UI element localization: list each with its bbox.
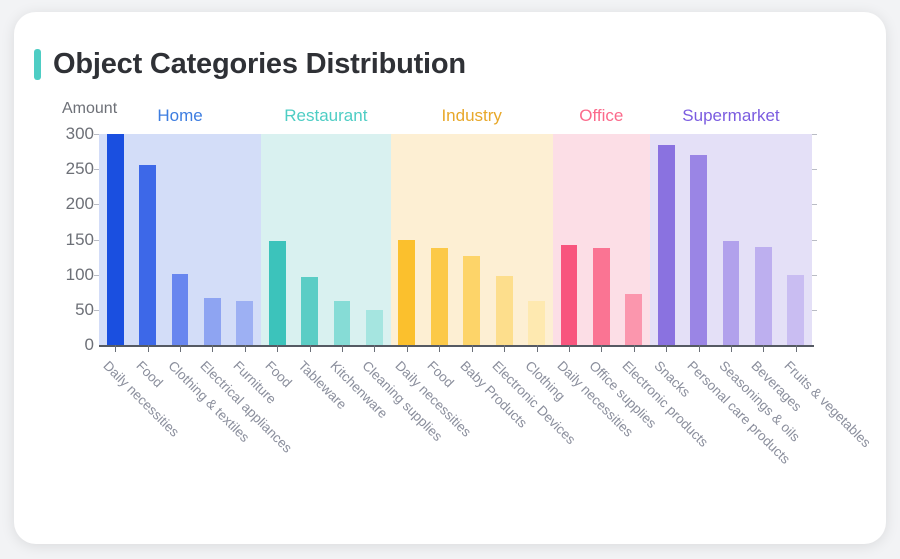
y-axis-tick-right (812, 310, 817, 311)
x-axis-tick (310, 345, 311, 352)
chart-plot-area: Amount 050100150200250300 HomeRestaurant… (14, 12, 886, 544)
x-axis-tick (115, 345, 116, 352)
x-axis-tick (342, 345, 343, 352)
x-axis-tick (439, 345, 440, 352)
x-axis-tick (763, 345, 764, 352)
y-axis-tick-right (812, 275, 817, 276)
y-axis-tick (94, 275, 99, 276)
x-axis-tick (245, 345, 246, 352)
y-axis-tick (94, 310, 99, 311)
x-axis-tick (148, 345, 149, 352)
x-axis-tick (569, 345, 570, 352)
x-axis-tick-labels: Daily necessitiesFoodClothing & textiles… (14, 12, 886, 544)
x-axis-tick (666, 345, 667, 352)
x-axis-tick (537, 345, 538, 352)
y-axis-tick-right (812, 169, 817, 170)
y-axis-tick (94, 204, 99, 205)
x-axis-tick (634, 345, 635, 352)
chart-card: Object Categories Distribution Amount 05… (14, 12, 886, 544)
x-axis-tick (277, 345, 278, 352)
x-axis-tick (407, 345, 408, 352)
x-axis-tick (212, 345, 213, 352)
x-axis-tick (504, 345, 505, 352)
x-axis-tick (472, 345, 473, 352)
y-axis-tick-right (812, 134, 817, 135)
y-axis-tick (94, 240, 99, 241)
y-axis-tick (94, 169, 99, 170)
y-axis-tick-right (812, 240, 817, 241)
x-axis-tick (601, 345, 602, 352)
x-axis-tick (731, 345, 732, 352)
x-axis-tick (796, 345, 797, 352)
x-axis-tick (180, 345, 181, 352)
y-axis-tick-right (812, 204, 817, 205)
y-axis-tick (94, 134, 99, 135)
x-axis-tick (374, 345, 375, 352)
x-axis-tick (699, 345, 700, 352)
